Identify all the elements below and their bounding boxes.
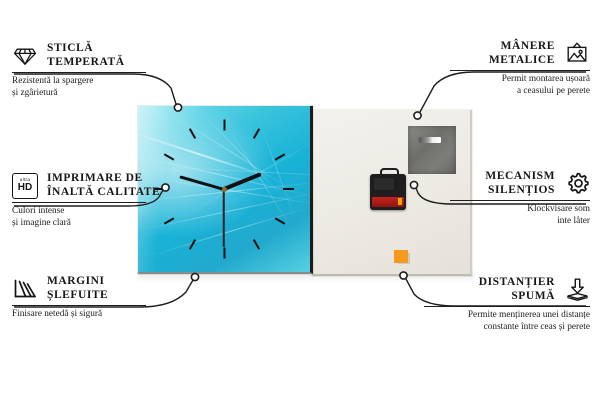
feature-divider [12,305,146,306]
gear-icon [564,171,590,197]
hour-tick [224,120,226,131]
feature-subtitle-polished-edges: Finisare netedă și sigură [12,309,146,321]
clock-mechanism [370,174,406,210]
feature-silent-mechanism: MECANISM SILENȚIOS Klockvisare som inte … [450,170,590,227]
feature-subtitle-metal-handles: Permit montarea ușoară a ceasului pe per… [450,74,590,97]
feature-subtitle-high-quality-print: Culori intense și imagine clară [12,206,160,229]
feature-divider [12,202,146,203]
arrow-down-layers-icon [564,277,590,303]
feature-divider [424,306,590,307]
feature-subtitle-silent-mechanism: Klockvisare som inte låter [450,204,590,227]
diagonal-lines-icon [12,276,38,302]
mechanism-housing-detail [374,178,394,190]
hour-tick [189,239,196,250]
feature-title-metal-handles: MÂNERE METALICE [489,40,555,67]
hour-tick [164,153,175,160]
hour-tick [224,248,226,259]
feature-divider [450,70,590,71]
feature-high-quality-print: ultra HD IMPRIMARE DE ÎNALTĂ CALITATE Cu… [12,172,160,229]
hour-tick [253,128,260,139]
feature-title-polished-edges: MARGINI ȘLEFUITE [47,275,108,302]
clock-hands-hub [222,187,227,192]
feature-title-tempered-glass: STICLĂ TEMPERATĂ [47,42,125,69]
battery [372,197,404,207]
diamond-icon [12,43,38,69]
metal-hanger-plate [408,126,456,174]
hour-tick [283,188,294,190]
feature-foam-spacer: DISTANȚIER SPUMĂ Permite menținerea unei… [424,276,590,333]
clock-face [138,106,313,274]
feature-divider [12,72,146,73]
feature-subtitle-tempered-glass: Rezistentă la spargere și zgârietură [12,76,146,99]
feature-tempered-glass: STICLĂ TEMPERATĂ Rezistentă la spargere … [12,42,146,99]
feature-title-foam-spacer: DISTANȚIER SPUMĂ [479,276,555,303]
hour-tick [253,239,260,250]
feature-metal-handles: MÂNERE METALICE Permit montarea ușoară a… [450,40,590,97]
ultra-hd-badge-icon: ultra HD [12,173,38,199]
feature-title-silent-mechanism: MECANISM SILENȚIOS [485,170,555,197]
feature-polished-edges: MARGINI ȘLEFUITE Finisare netedă și sigu… [12,275,146,321]
infographic-canvas: STICLĂ TEMPERATĂ Rezistentă la spargere … [0,0,600,400]
battery-terminal [398,198,402,205]
feature-title-high-quality-print: IMPRIMARE DE ÎNALTĂ CALITATE [47,172,160,199]
second-hand [223,189,225,247]
picture-frame-hanging-icon [564,41,590,67]
ultra-hd-badge-main-text: HD [18,183,32,193]
feature-divider [450,200,590,201]
product-photo [138,106,472,278]
hanger-slot [419,137,441,143]
foam-spacer-pad [394,250,408,263]
clock-back-panel [312,110,472,276]
feature-subtitle-foam-spacer: Permite menținerea unei distanțe constan… [424,310,590,333]
